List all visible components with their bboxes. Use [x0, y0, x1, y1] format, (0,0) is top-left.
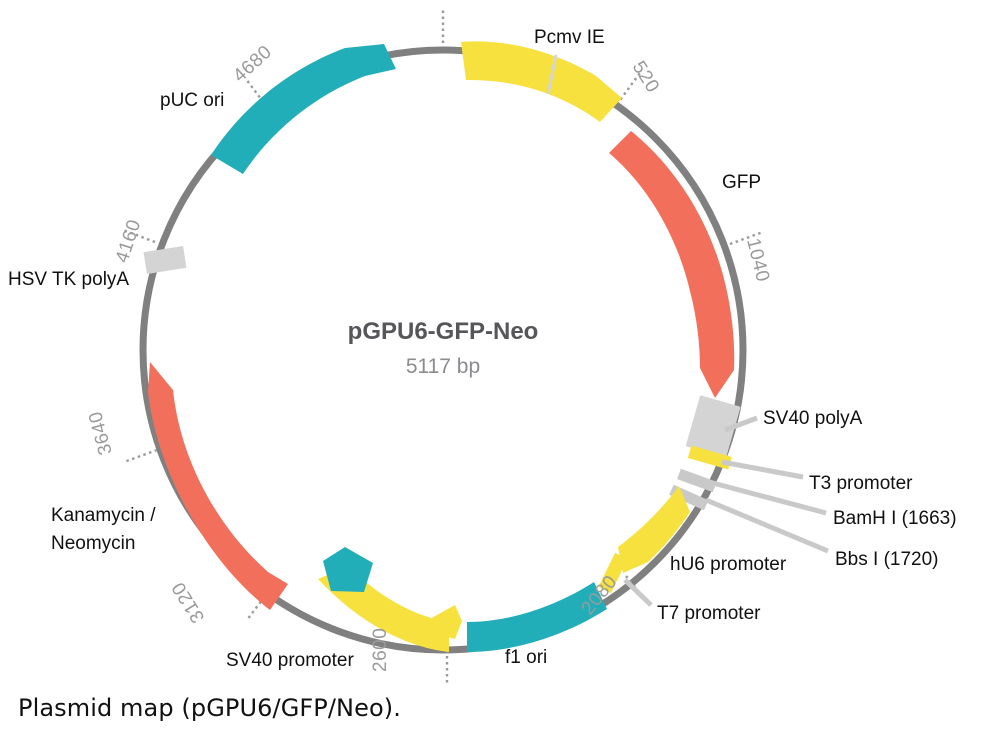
label-t3-promoter: T3 promoter [809, 473, 913, 494]
tick-label-4160: 4160 [112, 217, 146, 266]
label-bamhi: BamH I (1663) [833, 508, 957, 529]
plasmid-name: pGPU6-GFP-Neo [348, 318, 539, 345]
label-pcmv-ie: Pcmv IE [534, 27, 605, 48]
label-kanamycin-neomycin-line2: Neomycin [51, 533, 135, 554]
tick-label-3640: 3640 [85, 409, 117, 457]
label-gfp: GFP [722, 172, 761, 193]
feature-kanamycin-neomycin-arrow[interactable] [148, 362, 288, 610]
feature-hsv-tk-polya-block[interactable] [144, 246, 187, 274]
feature-gfp-arrow[interactable] [609, 131, 734, 398]
label-f1-ori: f1 ori [505, 647, 547, 668]
plasmid-size: 5117 bp [406, 355, 480, 378]
tick-label-4680: 4680 [229, 41, 276, 86]
feature-gfp[interactable] [609, 131, 734, 398]
label-t7-promoter: T7 promoter [657, 603, 761, 624]
leader-t3-promoter [722, 462, 803, 477]
tick-label-2600: 2600 [370, 628, 391, 672]
tick-label-520: 520 [628, 58, 663, 97]
label-hsv-tk-polya: HSV TK polyA [8, 269, 129, 290]
plasmid-map-svg: Pcmv IE GFP SV40 polyA T3 promoter BamH … [0, 0, 982, 690]
feature-pcmv-ie-arrow[interactable] [461, 41, 622, 122]
label-sv40-promoter: SV40 promoter [226, 650, 354, 671]
restriction-site-bamhi[interactable] [677, 469, 716, 492]
leader-t7-promoter [625, 580, 651, 605]
label-sv40-polya: SV40 polyA [763, 408, 863, 429]
label-kanamycin-neomycin-line1: Kanamycin / [51, 505, 156, 526]
label-puc-ori: pUC ori [160, 90, 224, 111]
plasmid-map-figure: Pcmv IE GFP SV40 polyA T3 promoter BamH … [0, 0, 982, 690]
feature-f1-ori-block[interactable] [467, 582, 607, 652]
label-bbsi: Bbs I (1720) [835, 549, 939, 570]
figure-caption: Plasmid map (pGPU6/GFP/Neo). [18, 694, 958, 722]
feature-pcmv-ie[interactable] [461, 41, 622, 122]
tick-mark-3640 [124, 450, 157, 462]
tick-label-1040: 1040 [742, 236, 773, 284]
label-hu6-promoter: hU6 promoter [670, 554, 787, 575]
feature-kanamycin-neomycin[interactable] [148, 362, 288, 610]
feature-unlabeled-teal-pentagon[interactable] [323, 547, 373, 592]
tick-label-3120: 3120 [168, 578, 209, 627]
